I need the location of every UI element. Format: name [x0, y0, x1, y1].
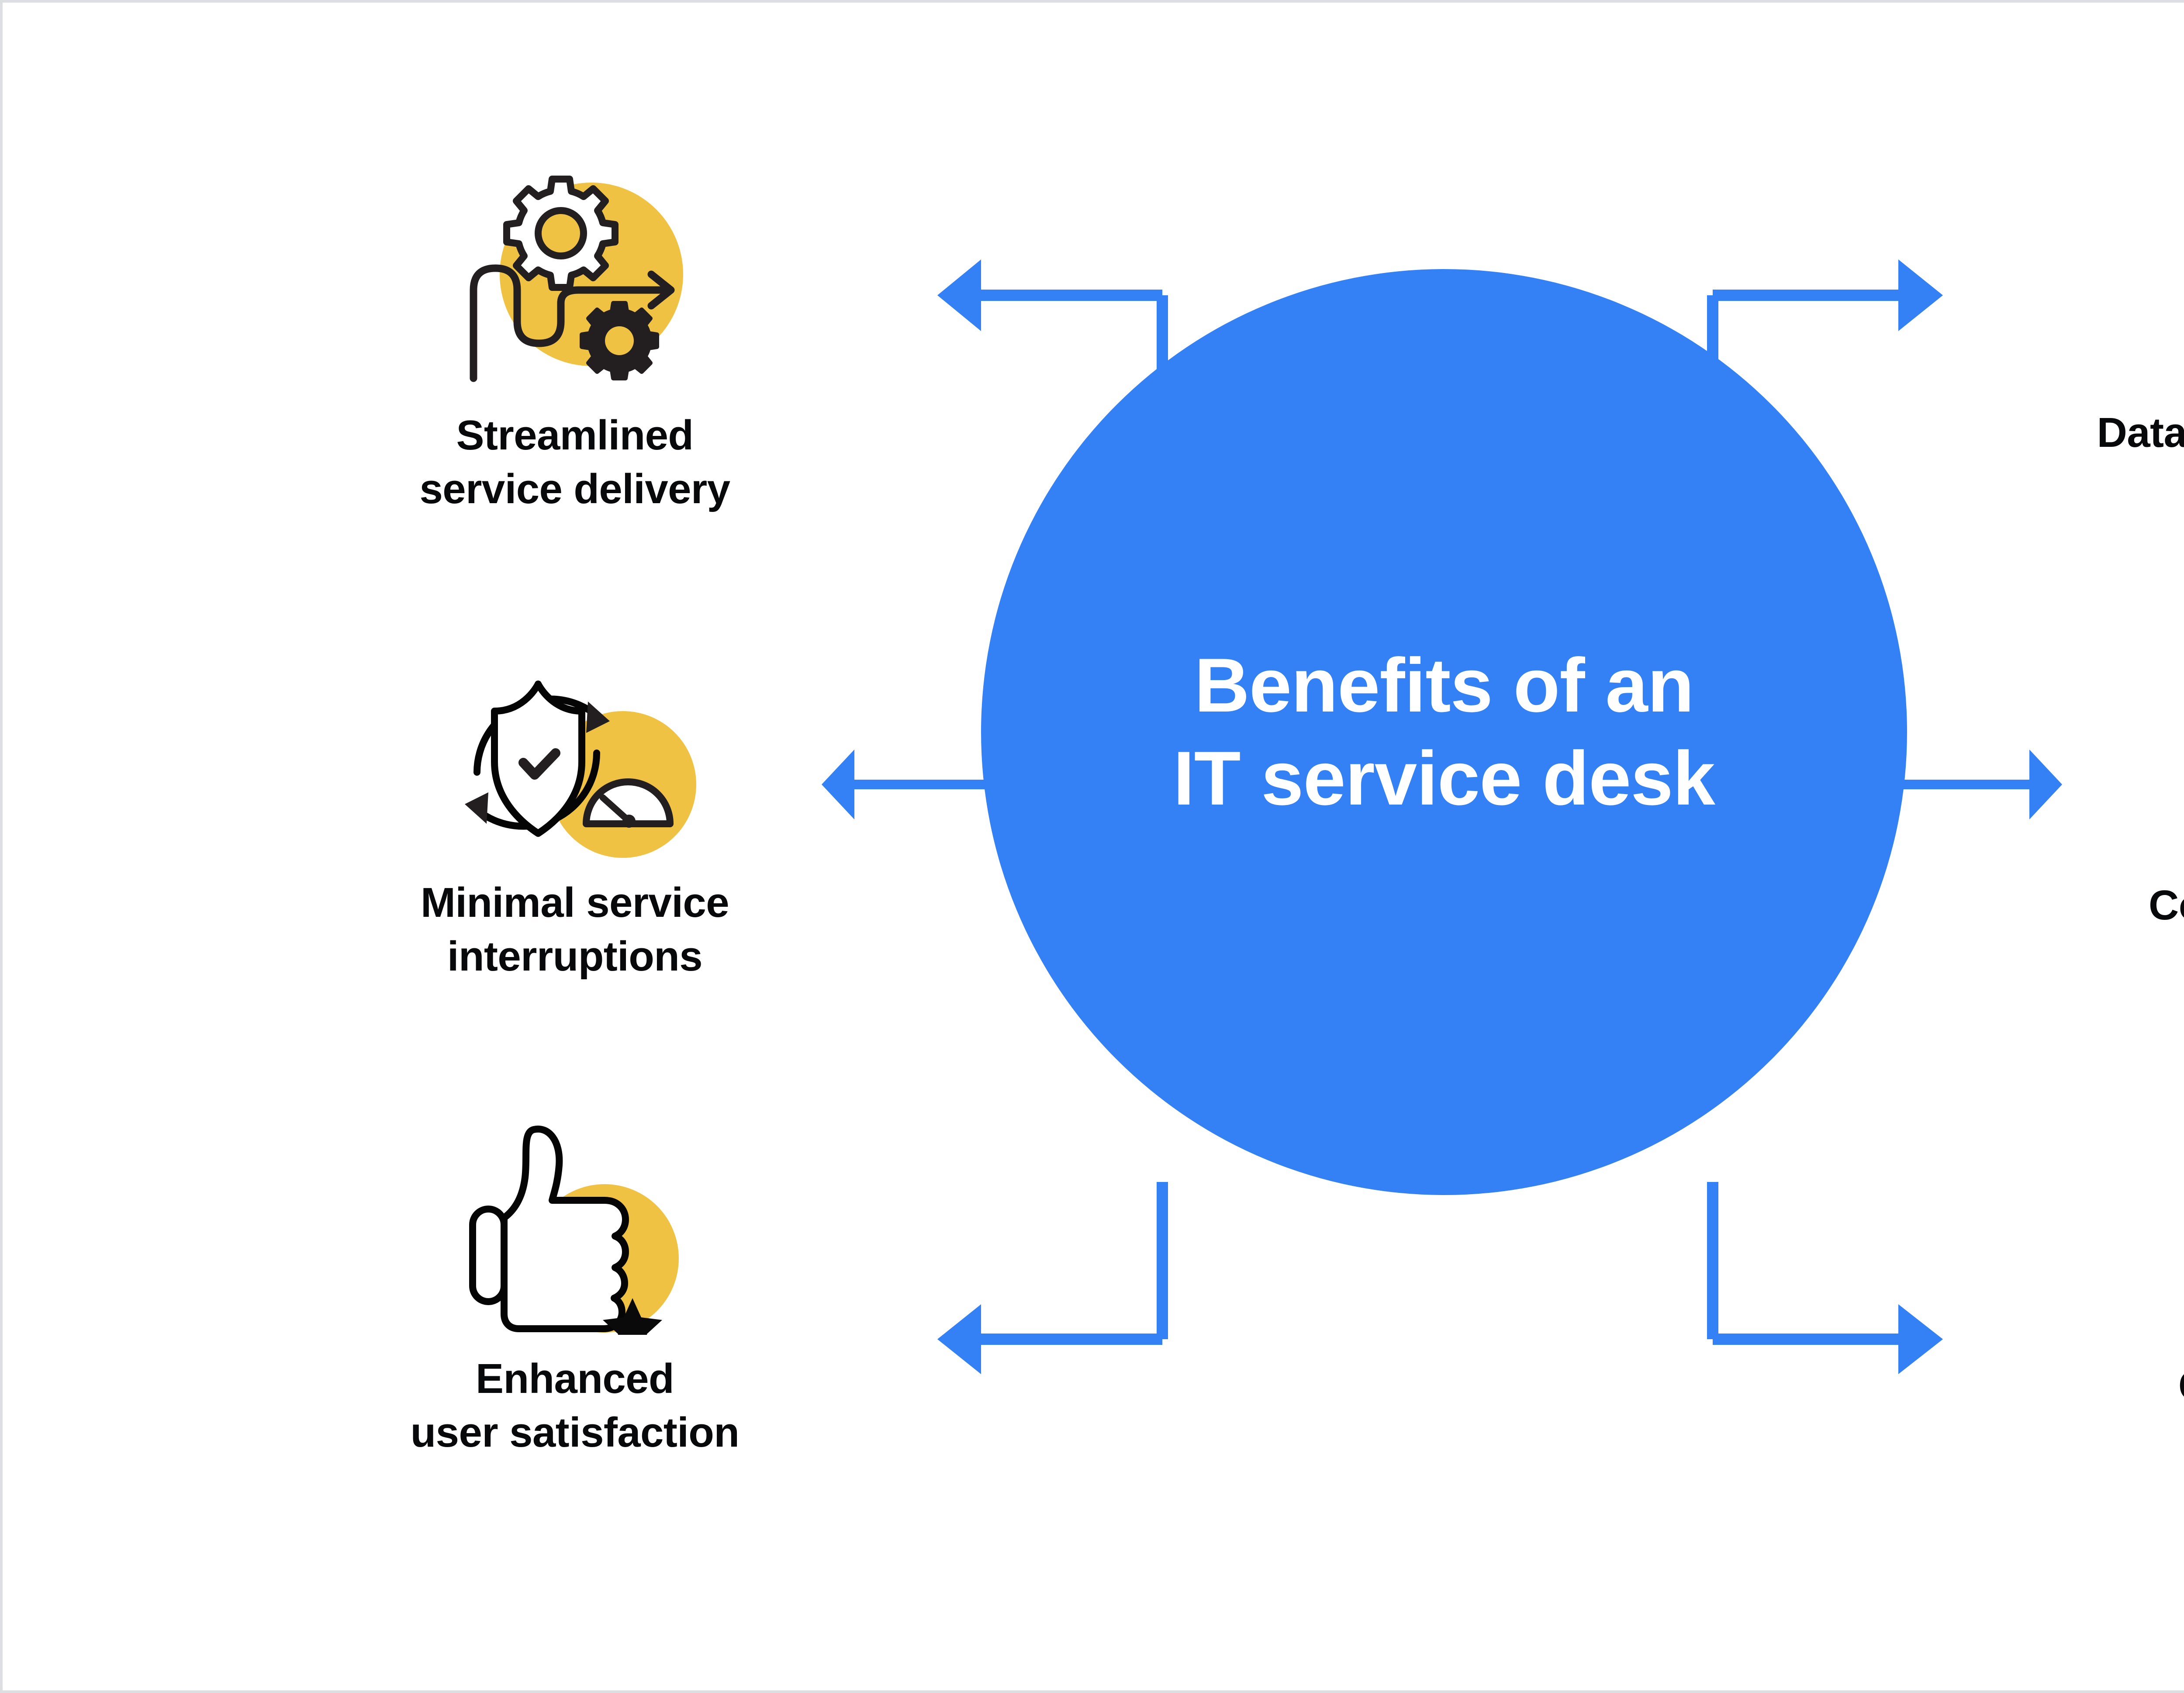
hand-coin-icon: $ $ — [2174, 632, 2184, 859]
hub-title: Benefits of an IT service desk — [1173, 639, 1715, 826]
benefit-label-streamlined: Streamlined service delivery — [420, 409, 730, 516]
magnifier-bar-chart-icon — [2174, 164, 2184, 391]
benefit-label-compliance: Compliance — [2178, 1359, 2184, 1413]
infographic-canvas: Benefits of an IT service desk — [0, 0, 2184, 1693]
benefit-label-minimal: Minimal service interruptions — [421, 876, 729, 984]
benefit-node-insights[interactable]: Data-driven insights — [2056, 164, 2184, 460]
benefit-node-minimal[interactable]: Minimal service interruptions — [335, 632, 815, 984]
benefit-node-compliance[interactable]: Compliance — [2056, 1108, 2184, 1413]
connector-enhanced-arrow — [937, 1182, 1162, 1374]
benefit-node-cost[interactable]: $ $ Cost efficiency — [2056, 632, 2184, 933]
center-hub: Benefits of an IT service desk — [981, 269, 1907, 1195]
benefit-node-enhanced[interactable]: Enhanced user satisfaction — [335, 1108, 815, 1460]
clipboard-gavel-icon — [2174, 1108, 2184, 1335]
gears-workflow-icon — [453, 164, 697, 391]
connector-minimal-arrow — [822, 750, 985, 819]
benefit-label-insights: Data-driven insights — [2097, 406, 2184, 460]
connector-compliance-arrow — [1713, 1182, 1943, 1374]
shield-check-gauge-icon — [453, 632, 697, 859]
connector-cost-arrow — [1903, 750, 2062, 819]
benefit-node-streamlined[interactable]: Streamlined service delivery — [335, 164, 815, 516]
thumbs-up-star-icon — [453, 1108, 697, 1335]
benefit-label-cost: Cost efficiency — [2149, 879, 2184, 933]
benefit-label-enhanced: Enhanced user satisfaction — [411, 1352, 740, 1460]
